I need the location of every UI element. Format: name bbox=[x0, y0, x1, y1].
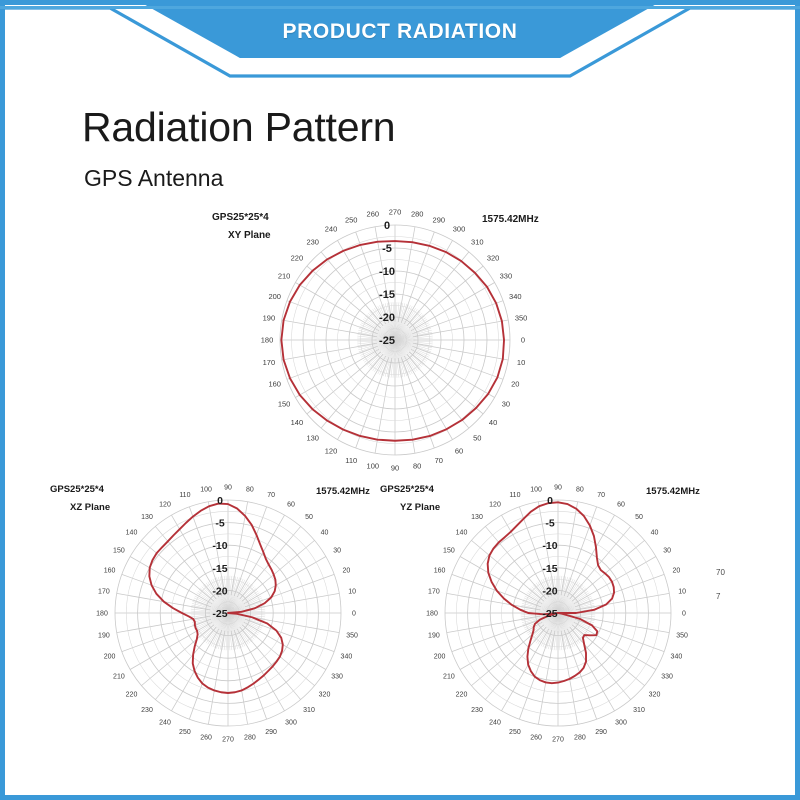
page-border-top bbox=[0, 0, 800, 5]
stray-label: 7 bbox=[716, 592, 720, 601]
stray-label: 70 bbox=[716, 568, 725, 577]
page-border-top-secondary bbox=[0, 6, 800, 9]
page-border-frame bbox=[0, 0, 800, 800]
